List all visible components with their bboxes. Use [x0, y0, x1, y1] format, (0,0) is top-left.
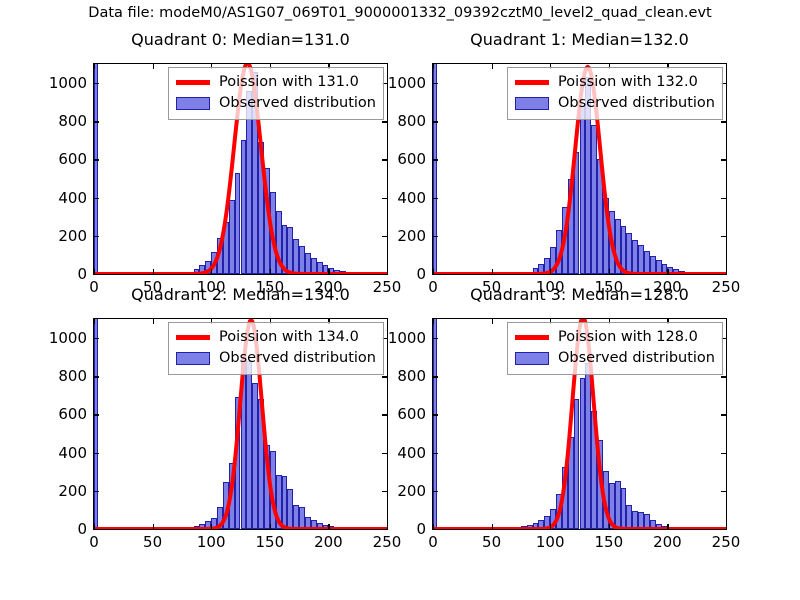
x-tick	[492, 319, 493, 324]
y-tick	[721, 414, 726, 415]
subplot-quadrant-3: Quadrant 3: Median=128.0Poission with 12…	[0, 0, 800, 600]
y-tick-label: 0	[370, 521, 426, 537]
x-tick-label: 200	[653, 534, 682, 550]
x-tick	[433, 319, 434, 324]
x-tick	[726, 319, 727, 324]
x-tick	[609, 524, 610, 529]
legend-entry-poisson: Poission with 128.0	[515, 327, 715, 348]
legend-entry-observed: Observed distribution	[515, 348, 715, 369]
y-tick-label: 1000	[370, 330, 426, 346]
x-tick-label: 250	[712, 534, 741, 550]
y-tick	[721, 453, 726, 454]
y-tick	[433, 376, 438, 377]
y-tick	[433, 338, 438, 339]
y-tick-label: 200	[370, 483, 426, 499]
subplot-title-quadrant-3: Quadrant 3: Median=128.0	[432, 285, 727, 304]
x-tick-label: 50	[482, 534, 501, 550]
y-tick-label: 400	[370, 445, 426, 461]
x-tick	[667, 524, 668, 529]
y-tick	[433, 529, 438, 530]
y-tick-label: 600	[370, 406, 426, 422]
legend-label-observed: Observed distribution	[558, 351, 715, 366]
y-tick	[721, 376, 726, 377]
legend-line-icon	[515, 335, 549, 340]
x-tick	[550, 524, 551, 529]
figure-canvas: Data file: modeM0/AS1G07_069T01_90000013…	[0, 0, 800, 600]
x-tick-label: 150	[594, 534, 623, 550]
x-tick-label: 100	[536, 534, 565, 550]
x-tick	[726, 524, 727, 529]
y-tick-label: 800	[370, 368, 426, 384]
legend-quadrant-3: Poission with 128.0Observed distribution	[507, 322, 723, 375]
y-tick	[721, 491, 726, 492]
x-tick	[492, 524, 493, 529]
y-tick	[433, 414, 438, 415]
y-tick	[433, 453, 438, 454]
axes-quadrant-3: Poission with 128.0Observed distribution	[432, 318, 727, 530]
legend-patch-icon	[515, 352, 549, 365]
y-tick	[433, 491, 438, 492]
legend-label-poisson: Poission with 128.0	[558, 330, 698, 345]
y-tick	[721, 529, 726, 530]
x-tick-label: 0	[428, 534, 438, 550]
